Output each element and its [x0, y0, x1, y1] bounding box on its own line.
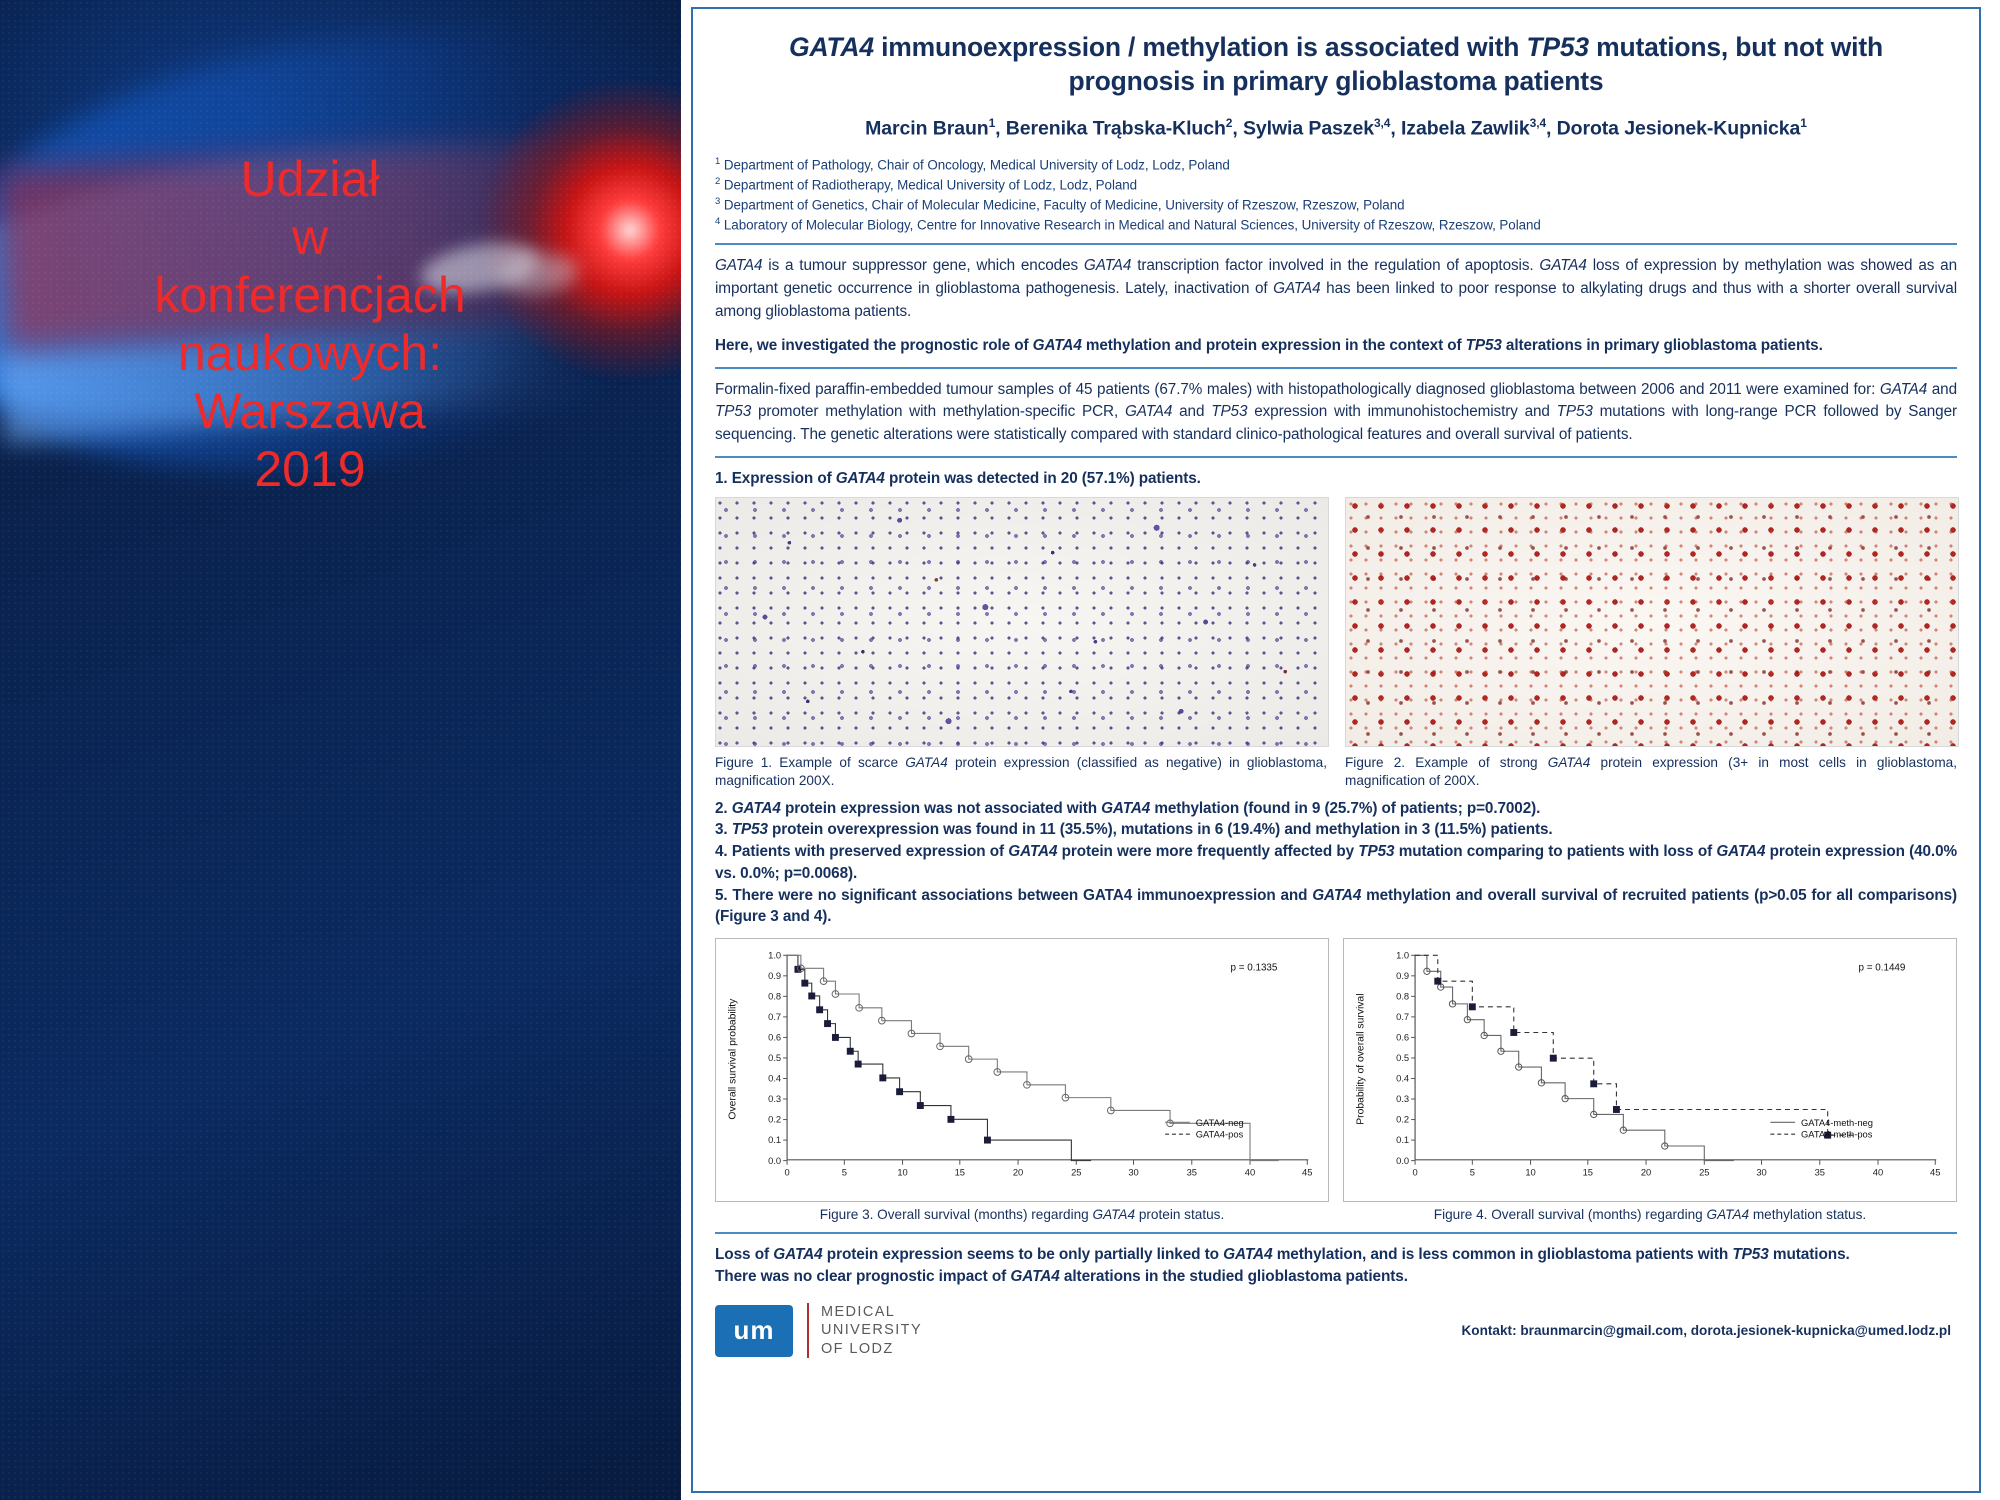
figure1-block: Figure 1. Example of scarce GATA4 protei… — [715, 497, 1327, 790]
background-paragraph: GATA4 is a tumour suppressor gene, which… — [715, 255, 1957, 323]
svg-text:10: 10 — [1525, 1168, 1535, 1178]
svg-text:0.7: 0.7 — [1396, 1012, 1409, 1022]
conclusion-1: Loss of GATA4 protein expression seems t… — [715, 1244, 1957, 1266]
fig3-series-pos-markers — [798, 965, 1174, 1127]
divider-conclusion — [715, 1232, 1957, 1234]
svg-text:0.4: 0.4 — [768, 1074, 781, 1084]
svg-text:0.7: 0.7 — [768, 1012, 781, 1022]
svg-text:25: 25 — [1699, 1168, 1709, 1178]
fig3-x-ticks: 0 5 10 15 20 25 30 35 40 45 — [784, 1160, 1312, 1178]
svg-text:0.8: 0.8 — [1396, 992, 1409, 1002]
svg-text:25: 25 — [1071, 1168, 1081, 1178]
divider-methods — [715, 367, 1957, 369]
fig3-legend-label-1: GATA4-neg — [1196, 1118, 1244, 1128]
result-item-3: 3. TP53 protein overexpression was found… — [715, 819, 1957, 841]
svg-text:0: 0 — [1412, 1168, 1417, 1178]
svg-text:0.8: 0.8 — [768, 992, 781, 1002]
svg-text:1.0: 1.0 — [1396, 951, 1409, 961]
caption-line-4: naukowych: — [30, 324, 590, 382]
svg-text:0: 0 — [784, 1168, 789, 1178]
university-logo-icon: um — [715, 1305, 793, 1357]
svg-text:0.3: 0.3 — [1396, 1094, 1409, 1104]
fig3-series-neg-line — [787, 955, 1091, 1160]
svg-text:0.6: 0.6 — [1396, 1033, 1409, 1043]
affiliation-2: 2 Department of Radiotherapy, Medical Un… — [715, 175, 1957, 195]
svg-text:0.0: 0.0 — [768, 1156, 781, 1166]
conclusion-2: There was no clear prognostic impact of … — [715, 1266, 1957, 1288]
fig3-series-neg-markers — [794, 966, 990, 1144]
caption-line-3: konferencjach — [30, 266, 590, 324]
university-line-2: UNIVERSITY — [821, 1321, 922, 1340]
slide-caption: Udział w konferencjach naukowych: Warsza… — [30, 150, 590, 498]
fig4-x-ticks: 0 5 10 15 20 25 30 35 40 45 — [1412, 1160, 1940, 1178]
svg-text:45: 45 — [1930, 1168, 1940, 1178]
survival-chart-row: 1.0 0.9 0.8 0.7 0.6 0.5 0.4 0.3 0.2 0.1 … — [715, 938, 1957, 1202]
title-text-a: immunoexpression / methylation is associ… — [874, 32, 1526, 62]
poster-content: GATA4 immunoexpression / methylation is … — [691, 7, 1981, 1493]
svg-text:0.9: 0.9 — [768, 971, 781, 981]
figure3-caption: Figure 3. Overall survival (months) rega… — [715, 1207, 1329, 1222]
svg-text:5: 5 — [1470, 1168, 1475, 1178]
caption-line-6: 2019 — [30, 440, 590, 498]
figure1-micrograph-image — [715, 497, 1329, 747]
poster-title: GATA4 immunoexpression / methylation is … — [723, 31, 1949, 98]
svg-text:40: 40 — [1245, 1168, 1255, 1178]
svg-text:0.1: 0.1 — [1396, 1135, 1409, 1145]
caption-line-2: w — [30, 208, 590, 266]
caption-line-1: Udział — [30, 150, 590, 208]
result-item-4: 4. Patients with preserved expression of… — [715, 841, 1957, 884]
divider-results — [715, 456, 1957, 458]
fig3-y-ticks: 1.0 0.9 0.8 0.7 0.6 0.5 0.4 0.3 0.2 0.1 … — [768, 951, 787, 1166]
svg-text:30: 30 — [1756, 1168, 1766, 1178]
svg-text:0.9: 0.9 — [1396, 971, 1409, 981]
divider-top — [715, 243, 1957, 245]
figure2-micrograph-image — [1345, 497, 1959, 747]
figure1-caption: Figure 1. Example of scarce GATA4 protei… — [715, 754, 1327, 790]
svg-text:0.1: 0.1 — [768, 1135, 781, 1145]
affiliation-1: 1 Department of Pathology, Chair of Onco… — [715, 155, 1957, 175]
fig3-pvalue: p = 0.1335 — [1231, 962, 1278, 973]
methods-paragraph: Formalin-fixed paraffin-embedded tumour … — [715, 379, 1957, 447]
figure3-svg: 1.0 0.9 0.8 0.7 0.6 0.5 0.4 0.3 0.2 0.1 … — [716, 939, 1328, 1201]
svg-text:35: 35 — [1815, 1168, 1825, 1178]
fig4-series-methpos-markers — [1434, 978, 1831, 1139]
fig4-legend-label-2: GATA4-meth-pos — [1801, 1130, 1873, 1140]
caption-line-5: Warszawa — [30, 382, 590, 440]
figure2-block: Figure 2. Example of strong GATA4 protei… — [1345, 497, 1957, 790]
author-list: Marcin Braun1, Berenika Trąbska-Kluch2, … — [715, 116, 1957, 141]
fig3-legend-label-2: GATA4-pos — [1196, 1130, 1244, 1140]
svg-text:20: 20 — [1641, 1168, 1651, 1178]
svg-text:5: 5 — [842, 1168, 847, 1178]
figure2-caption: Figure 2. Example of strong GATA4 protei… — [1345, 754, 1957, 790]
svg-text:10: 10 — [897, 1168, 907, 1178]
svg-text:0.6: 0.6 — [768, 1033, 781, 1043]
figure4-caption: Figure 4. Overall survival (months) rega… — [1343, 1207, 1957, 1222]
title-gene-tp53: TP53 — [1526, 32, 1589, 62]
result-item-2: 2. GATA4 protein expression was not asso… — [715, 798, 1957, 820]
poster-image: GATA4 immunoexpression / methylation is … — [681, 0, 2000, 1500]
affiliation-3: 3 Department of Genetics, Chair of Molec… — [715, 195, 1957, 215]
fig4-ylabel: Probability of overall survival — [1356, 994, 1367, 1125]
fig4-y-ticks: 1.0 0.9 0.8 0.7 0.6 0.5 0.4 0.3 0.2 0.1 … — [1396, 951, 1415, 1166]
fig4-series-methpos-line — [1415, 955, 1857, 1135]
title-gene-gata4: GATA4 — [789, 32, 874, 62]
aim-paragraph: Here, we investigated the prognostic rol… — [715, 335, 1957, 358]
affiliation-4: 4 Laboratory of Molecular Biology, Centr… — [715, 215, 1957, 235]
university-name: MEDICAL UNIVERSITY OF LODZ — [807, 1303, 922, 1359]
svg-text:40: 40 — [1873, 1168, 1883, 1178]
fig3-ylabel: Overall survival probability — [728, 998, 739, 1120]
fig4-legend-label-1: GATA4-meth-neg — [1801, 1118, 1873, 1128]
svg-text:0.2: 0.2 — [1396, 1115, 1409, 1125]
svg-text:1.0: 1.0 — [768, 951, 781, 961]
svg-text:15: 15 — [1583, 1168, 1593, 1178]
figure4-chart: 1.0 0.9 0.8 0.7 0.6 0.5 0.4 0.3 0.2 0.1 … — [1343, 938, 1957, 1202]
affiliation-list: 1 Department of Pathology, Chair of Onco… — [715, 155, 1957, 235]
svg-text:35: 35 — [1187, 1168, 1197, 1178]
fig4-pvalue: p = 0.1449 — [1859, 962, 1906, 973]
svg-text:0.3: 0.3 — [768, 1094, 781, 1104]
svg-text:0.2: 0.2 — [768, 1115, 781, 1125]
university-line-3: OF LODZ — [821, 1340, 922, 1359]
fig3-legend: GATA4-neg GATA4-pos — [1165, 1118, 1244, 1140]
svg-text:0.5: 0.5 — [768, 1053, 781, 1063]
svg-text:0.5: 0.5 — [1396, 1053, 1409, 1063]
svg-text:15: 15 — [955, 1168, 965, 1178]
university-line-1: MEDICAL — [821, 1303, 922, 1322]
figure4-svg: 1.0 0.9 0.8 0.7 0.6 0.5 0.4 0.3 0.2 0.1 … — [1344, 939, 1956, 1201]
svg-text:0.0: 0.0 — [1396, 1156, 1409, 1166]
fig4-series-methneg-markers — [1424, 968, 1668, 1149]
poster-footer: um MEDICAL UNIVERSITY OF LODZ Kontakt: b… — [715, 1303, 1957, 1359]
svg-text:45: 45 — [1302, 1168, 1312, 1178]
result-item-5: 5. There were no significant association… — [715, 885, 1957, 928]
svg-text:20: 20 — [1013, 1168, 1023, 1178]
fig4-legend: GATA4-meth-neg GATA4-meth-pos — [1770, 1118, 1873, 1140]
svg-text:0.4: 0.4 — [1396, 1074, 1409, 1084]
result-item-1: 1. Expression of GATA4 protein was detec… — [715, 468, 1957, 490]
svg-text:30: 30 — [1128, 1168, 1138, 1178]
figure3-chart: 1.0 0.9 0.8 0.7 0.6 0.5 0.4 0.3 0.2 0.1 … — [715, 938, 1329, 1202]
contact-info: Kontakt: braunmarcin@gmail.com, dorota.j… — [1461, 1323, 1957, 1338]
micrograph-row: Figure 1. Example of scarce GATA4 protei… — [715, 497, 1957, 790]
